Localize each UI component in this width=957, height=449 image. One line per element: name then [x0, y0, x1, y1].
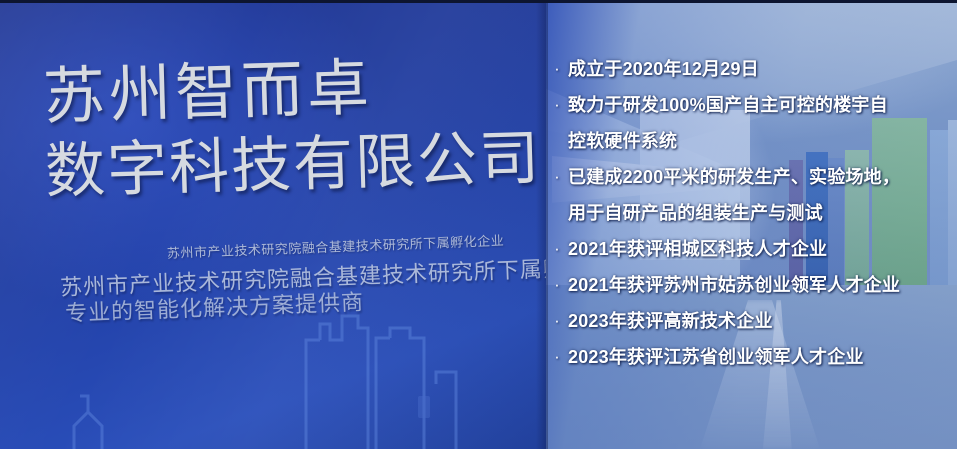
bullet-marker-icon: · [546, 160, 568, 194]
bullet-marker-icon: · [546, 304, 568, 338]
signage-subtext-group: 苏州市产业技术研究院融合基建技术研究所下属孵化企业 苏州市产业技术研究院融合基建… [59, 229, 532, 328]
list-item-label: 2021年获评苏州市姑苏创业领军人才企业 [568, 268, 900, 302]
signage-wall: 苏州智而卓 数字科技有限公司 苏州市产业技术研究院融合基建技术研究所下属孵化企业… [0, 0, 546, 449]
top-edge-hairline [0, 0, 957, 3]
list-item-continuation: · 用于自研产品的组装生产与测试 [546, 196, 951, 230]
list-item-label: 2023年获评江苏省创业领军人才企业 [568, 340, 864, 374]
list-item-label: 致力于研发100%国产自主可控的楼宇自 [568, 88, 888, 122]
company-name-line1: 苏州智而卓 [42, 47, 544, 135]
list-item: · 致力于研发100%国产自主可控的楼宇自 [546, 88, 951, 122]
company-name-sign: 苏州智而卓 数字科技有限公司 [42, 47, 546, 209]
company-facts-list: · 成立于2020年12月29日 · 致力于研发100%国产自主可控的楼宇自 ·… [546, 52, 951, 376]
list-item-label: 成立于2020年12月29日 [568, 52, 759, 86]
list-item: · 2023年获评江苏省创业领军人才企业 [546, 340, 951, 374]
bullet-marker-icon: · [546, 88, 568, 122]
company-name-line2: 数字科技有限公司 [44, 121, 546, 209]
list-item: · 2021年获评相城区科技人才企业 [546, 232, 951, 266]
company-intro-slide: 苏州智而卓 数字科技有限公司 苏州市产业技术研究院融合基建技术研究所下属孵化企业… [0, 0, 957, 449]
list-item: · 成立于2020年12月29日 [546, 52, 951, 86]
list-item: · 已建成2200平米的研发生产、实验场地， [546, 160, 951, 194]
bullet-marker-icon: · [546, 340, 568, 374]
list-item-label: 2021年获评相城区科技人才企业 [568, 232, 827, 266]
list-item-label: 已建成2200平米的研发生产、实验场地， [568, 160, 900, 194]
list-item-label: 用于自研产品的组装生产与测试 [568, 196, 823, 230]
list-item-continuation: · 控软硬件系统 [546, 124, 951, 158]
list-item: · 2021年获评苏州市姑苏创业领军人才企业 [546, 268, 951, 302]
list-item-label: 2023年获评高新技术企业 [568, 304, 773, 338]
bullet-marker-icon: · [546, 268, 568, 302]
list-item: · 2023年获评高新技术企业 [546, 304, 951, 338]
list-item-label: 控软硬件系统 [568, 124, 677, 158]
bullet-marker-icon: · [546, 232, 568, 266]
bullet-marker-icon: · [546, 52, 568, 86]
